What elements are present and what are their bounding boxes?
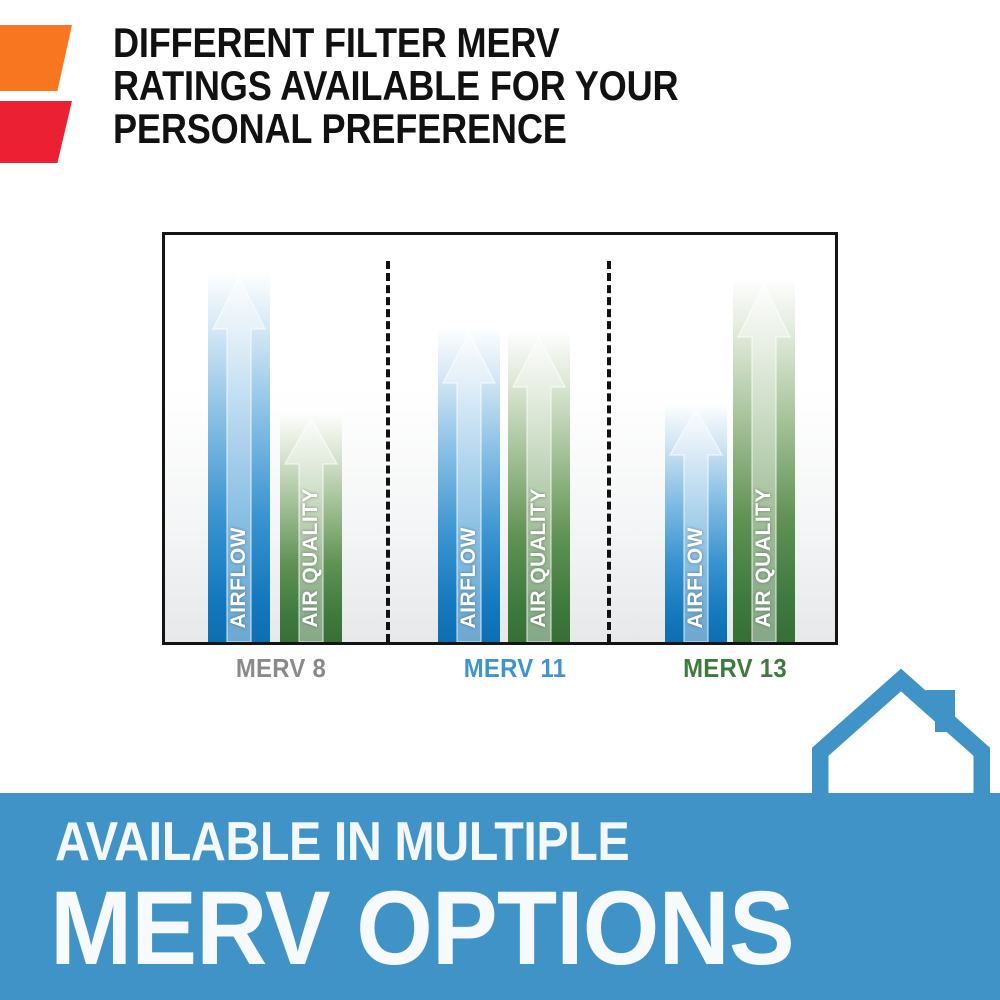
category-label-merv-8: MERV 8 (194, 653, 369, 684)
bar-label: AIR QUALITY (527, 488, 551, 628)
house-icon (812, 668, 990, 796)
bar-merv11-air-quality: AIR QUALITY (508, 331, 570, 642)
bottom-banner: AVAILABLE IN MULTIPLE MERV OPTIONS (0, 793, 1000, 1000)
bar-label: AIR QUALITY (299, 488, 323, 628)
bar-label: AIR QUALITY (752, 488, 776, 628)
red-chevron-icon (0, 101, 72, 163)
bar-label: AIRFLOW (227, 527, 251, 628)
bar-merv11-airflow: AIRFLOW (438, 327, 500, 642)
page-title-line-2: RATINGS AVAILABLE FOR YOUR (113, 64, 749, 107)
page-title: DIFFERENT FILTER MERV RATINGS AVAILABLE … (113, 21, 749, 150)
banner-line-2: MERV OPTIONS (50, 876, 794, 981)
group-divider-2 (607, 261, 611, 642)
orange-chevron-icon (0, 25, 72, 91)
group-divider-1 (386, 261, 390, 642)
merv-comparison-chart: AIRFLOW AIR QUALITY AIR (162, 232, 838, 645)
category-label-merv-13: MERV 13 (648, 653, 823, 684)
bar-label: AIRFLOW (684, 527, 708, 628)
page-title-line-3: PERSONAL PREFERENCE (113, 107, 749, 150)
bar-merv8-air-quality: AIR QUALITY (280, 412, 342, 642)
bar-merv13-airflow: AIRFLOW (665, 403, 727, 642)
category-label-merv-11: MERV 11 (428, 653, 603, 684)
bar-label: AIRFLOW (457, 527, 481, 628)
page-title-line-1: DIFFERENT FILTER MERV (113, 21, 749, 64)
infographic-root: DIFFERENT FILTER MERV RATINGS AVAILABLE … (0, 0, 1000, 1000)
bar-merv8-airflow: AIRFLOW (208, 271, 270, 642)
banner-line-1: AVAILABLE IN MULTIPLE (55, 814, 629, 869)
bar-merv13-air-quality: AIR QUALITY (733, 279, 795, 642)
